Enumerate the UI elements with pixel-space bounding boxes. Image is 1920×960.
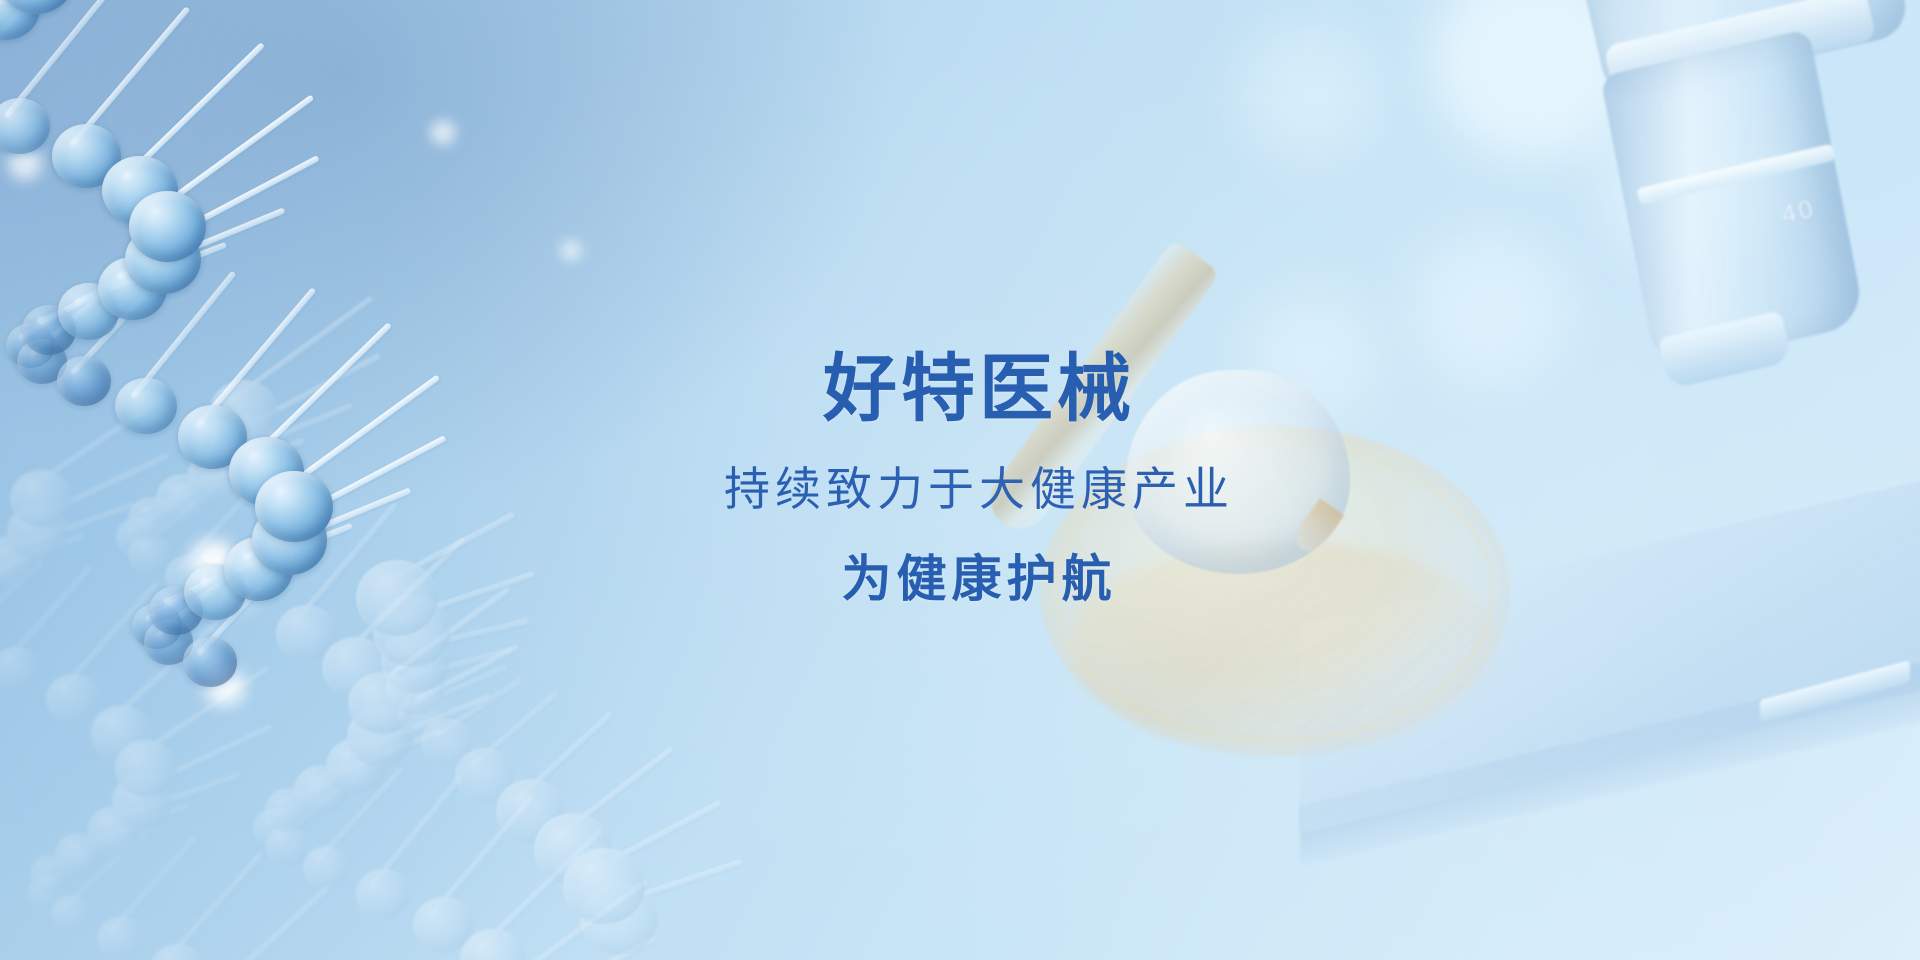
- page-tagline: 为健康护航: [842, 554, 1117, 604]
- hero-banner: 40 好特医械 持续致力于大健康产业 为健康护航: [0, 0, 1920, 960]
- page-subtitle: 持续致力于大健康产业: [724, 466, 1234, 512]
- page-title: 好特医械: [823, 352, 1135, 426]
- hero-copy: 好特医械 持续致力于大健康产业 为健康护航: [0, 0, 1920, 960]
